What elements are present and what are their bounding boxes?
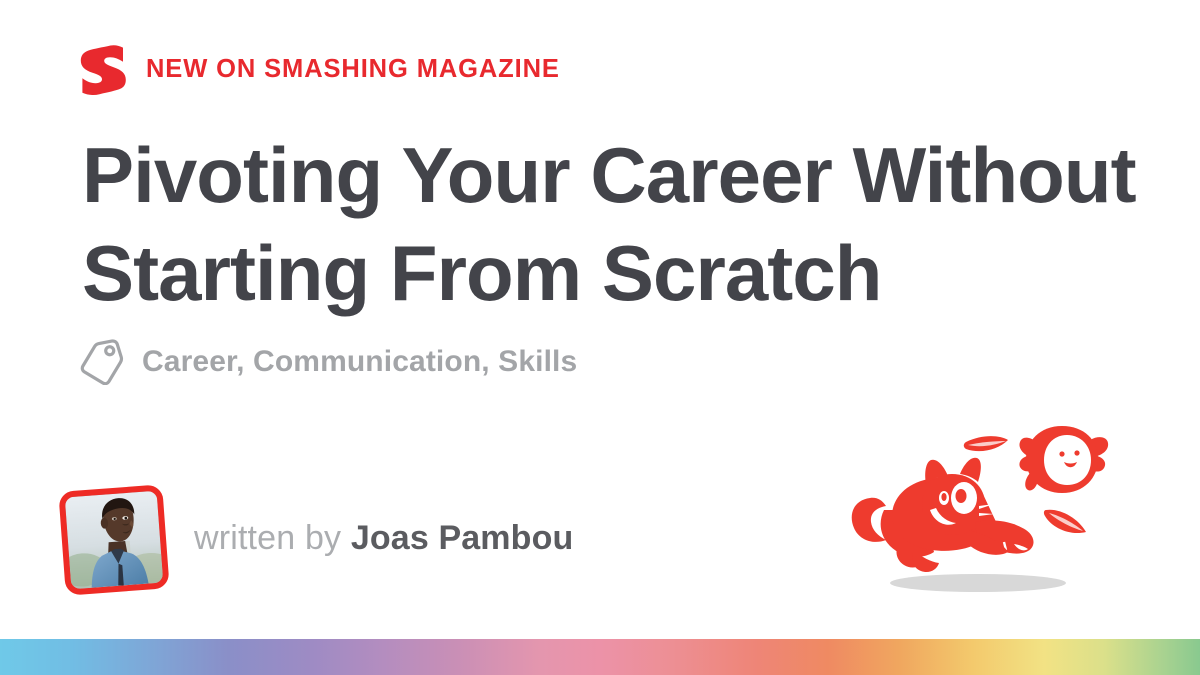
- smashing-s-logo-icon: [80, 45, 126, 95]
- running-cat-chasing-bird-illustration: [848, 418, 1138, 603]
- article-tags-row: Career, Communication, Skills: [76, 338, 577, 386]
- avatar-frame: [58, 484, 169, 595]
- rainbow-gradient-bar: [0, 639, 1200, 675]
- article-share-card: NEW ON SMASHING MAGAZINE Pivoting Your C…: [0, 0, 1200, 675]
- article-tags-label: Career, Communication, Skills: [142, 347, 577, 377]
- byline-author-name: Joas Pambou: [351, 519, 574, 557]
- cat-icon: [852, 458, 1034, 572]
- bird-icon: [1019, 426, 1108, 493]
- byline-prefix: written by: [194, 519, 341, 557]
- avatar: [58, 484, 169, 595]
- mascot-shadow: [890, 574, 1066, 592]
- title-line-1: Pivoting Your Career Without: [82, 126, 1172, 224]
- article-title: Pivoting Your Career Without Starting Fr…: [82, 126, 1172, 322]
- byline-text: written by Joas Pambou: [194, 521, 573, 559]
- byline-row: written by Joas Pambou: [62, 484, 573, 596]
- brand-kicker-row: NEW ON SMASHING MAGAZINE: [80, 46, 560, 94]
- tag-icon: [76, 339, 126, 385]
- kicker-label: NEW ON SMASHING MAGAZINE: [146, 57, 560, 83]
- leaf-icon: [1044, 510, 1086, 533]
- title-line-2: Starting From Scratch: [82, 224, 1172, 322]
- leaf-icon: [964, 436, 1008, 451]
